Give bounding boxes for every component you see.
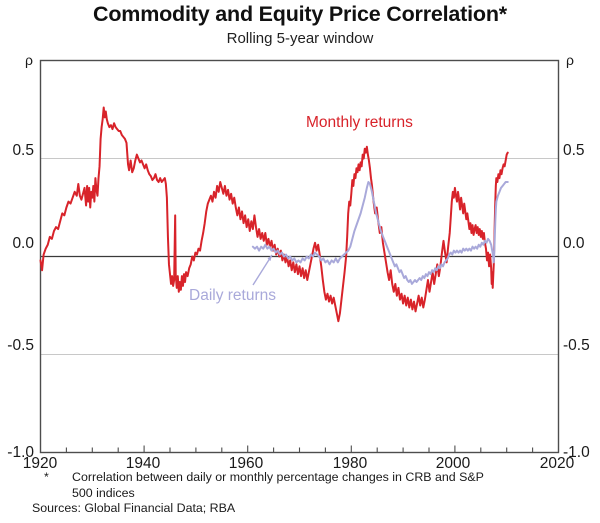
x-tick-2020: 2020	[527, 455, 587, 473]
y-tick-left-0: 0.5	[0, 142, 34, 160]
plot-canvas	[0, 0, 600, 523]
footnote-text: Correlation between daily or monthly per…	[72, 470, 502, 501]
series-label-monthly: Monthly returns	[306, 114, 413, 132]
y-tick-right-0: 0.5	[563, 142, 600, 160]
y-tick-right-2: -0.5	[563, 337, 600, 355]
chart-figure: Commodity and Equity Price Correlation* …	[0, 0, 600, 523]
x-tick-1920: 1920	[10, 455, 70, 473]
y-tick-right-1: 0.0	[563, 235, 600, 253]
y-tick-left-1: 0.0	[0, 235, 34, 253]
footnote-marker: *	[44, 470, 49, 486]
series-label-daily: Daily returns	[189, 287, 276, 305]
y-tick-left-2: -0.5	[0, 337, 34, 355]
footnote-sources: Sources: Global Financial Data; RBA	[32, 501, 235, 517]
